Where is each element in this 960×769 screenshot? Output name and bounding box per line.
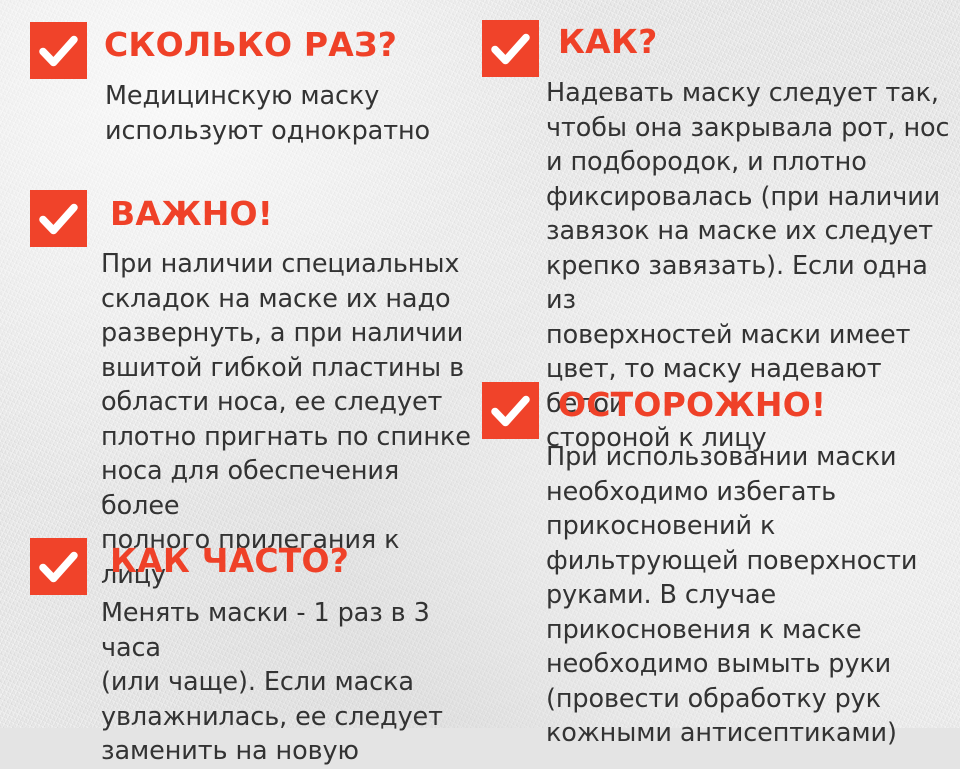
check-icon xyxy=(30,22,87,79)
check-icon xyxy=(482,382,539,439)
right-column: КАК? Надевать маску следует так, чтобы о… xyxy=(470,0,960,728)
block-skolko-raz: СКОЛЬКО РАЗ? Медицинскую маску использую… xyxy=(0,0,470,180)
block-heading-kak: КАК? xyxy=(558,24,657,60)
block-heading-skolko-raz: СКОЛЬКО РАЗ? xyxy=(104,27,397,63)
block-kak-chasto: КАК ЧАСТО? Менять маски - 1 раз в 3 часа… xyxy=(0,520,470,728)
infographic-poster: СКОЛЬКО РАЗ? Медицинскую маску использую… xyxy=(0,0,960,728)
block-vazhno: ВАЖНО! При наличии специальных складок н… xyxy=(0,180,470,520)
block-body-skolko-raz: Медицинскую маску используют однократно xyxy=(105,79,465,148)
check-icon xyxy=(482,20,539,77)
left-column: СКОЛЬКО РАЗ? Медицинскую маску использую… xyxy=(0,0,470,728)
check-icon xyxy=(30,190,87,247)
block-body-ostorozhno: При использовании маски необходимо избег… xyxy=(546,440,958,751)
block-kak: КАК? Надевать маску следует так, чтобы о… xyxy=(470,0,960,370)
block-body-kak-chasto: Менять маски - 1 раз в 3 часа (или чаще)… xyxy=(101,596,476,769)
block-heading-ostorozhno: ОСТОРОЖНО! xyxy=(558,387,826,423)
block-ostorozhno: ОСТОРОЖНО! При использовании маски необх… xyxy=(470,370,960,728)
block-heading-vazhno: ВАЖНО! xyxy=(110,196,273,232)
block-heading-kak-chasto: КАК ЧАСТО? xyxy=(110,543,349,579)
check-icon xyxy=(30,538,87,595)
